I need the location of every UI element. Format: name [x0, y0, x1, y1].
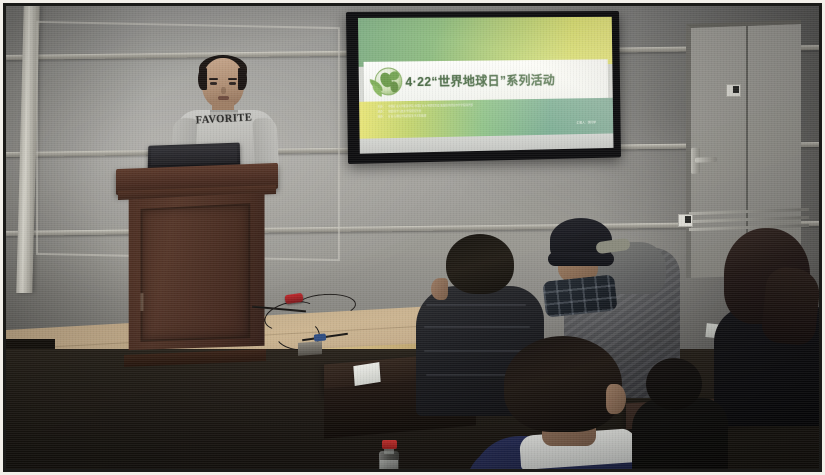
lectern: [122, 166, 272, 358]
switch-toggle-icon: [733, 86, 739, 93]
laptop-screen: [151, 145, 237, 166]
wall-light-switch[interactable]: [726, 84, 741, 97]
water-bottle: [378, 440, 400, 469]
paper-sheet-on-desk: [353, 362, 380, 386]
projection-screen: 4·22“世界地球日”系列活动 主办： 中国矿业大学能源学院 中国矿业大学研究生…: [346, 11, 621, 164]
attendee-ear: [431, 278, 448, 300]
lectern-front-panel: [140, 203, 250, 342]
lectern-body: [129, 192, 265, 350]
presenter-nose: [221, 87, 226, 94]
floor-equipment-box: [298, 341, 322, 356]
bottle-label: [380, 460, 398, 469]
attendee-head-silhouette: [646, 358, 702, 410]
earth-globe-icon: [369, 66, 403, 96]
attendee-plaid-scarf: [542, 274, 617, 317]
attendee-head: [446, 234, 514, 294]
credit-text: 矿业与测绘学院研究生学术科技部: [388, 114, 426, 120]
attendee-hair: [504, 336, 622, 432]
lectern-latch: [140, 293, 143, 311]
slide-title: 4·22“世界地球日”系列活动: [405, 70, 555, 91]
attendee-beanie-brim: [548, 252, 614, 266]
attendee-far-left-silhouette: [646, 358, 756, 469]
presenter-hair-side: [198, 68, 207, 90]
presenter-eyebrow: [209, 78, 218, 80]
lecture-hall-scene: 4·22“世界地球日”系列活动 主办： 中国矿业大学能源学院 中国矿业大学研究生…: [6, 6, 819, 469]
presenter-eye: [210, 82, 217, 85]
presenter-eye: [229, 82, 236, 85]
attendee-ear: [606, 384, 626, 414]
photograph-frame: 4·22“世界地球日”系列活动 主办： 中国矿业大学能源学院 中国矿业大学研究生…: [0, 0, 825, 475]
blue-equipment-icon: [314, 333, 327, 341]
slide-presenter-credit: 汇报人：李同学: [576, 121, 596, 125]
presentation-slide: 4·22“世界地球日”系列活动 主办： 中国矿业大学能源学院 中国矿业大学研究生…: [358, 17, 614, 154]
presenter-mouth: [218, 96, 229, 100]
door-handle-icon[interactable]: [695, 157, 717, 163]
attendee-hair-strands: [760, 265, 819, 346]
slide-title-bar: 4·22“世界地球日”系列活动: [364, 59, 608, 102]
presenter-hair-side: [238, 68, 247, 90]
presenter-eyebrow: [228, 78, 237, 80]
credit-label: 协办：: [378, 115, 386, 120]
bottle-cap-icon: [382, 440, 397, 449]
